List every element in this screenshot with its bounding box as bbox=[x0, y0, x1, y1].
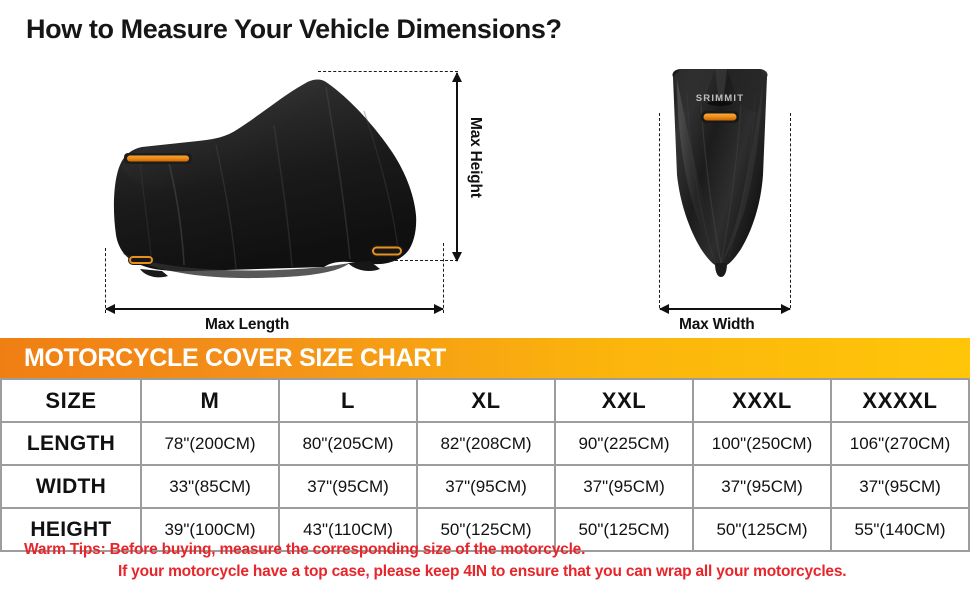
guide-height-bottom-dashed bbox=[390, 260, 458, 261]
max-height-label: Max Height bbox=[466, 117, 484, 198]
reflective-strip-upper bbox=[124, 153, 192, 164]
table-row-label-length: LENGTH bbox=[1, 422, 141, 465]
cell-length-xxxl: 100"(250CM) bbox=[693, 422, 831, 465]
guide-front-left-dashed bbox=[659, 113, 660, 308]
brand-logo: SRIMMIT bbox=[677, 93, 763, 104]
grommet-lower-left bbox=[128, 255, 154, 265]
size-chart-banner: MOTORCYCLE COVER SIZE CHART bbox=[0, 338, 970, 378]
guide-right-dashed bbox=[443, 243, 444, 313]
max-width-label: Max Width bbox=[679, 316, 755, 334]
reflective-strip-front bbox=[701, 111, 739, 123]
cell-width-xxl: 37"(95CM) bbox=[555, 465, 693, 508]
max-width-arrow bbox=[660, 308, 790, 310]
cell-width-xxxxl: 37"(95CM) bbox=[831, 465, 969, 508]
guide-front-right-dashed bbox=[790, 113, 791, 308]
guide-top-dashed bbox=[318, 71, 458, 72]
cell-length-xxxxl: 106"(270CM) bbox=[831, 422, 969, 465]
table-row-length: LENGTH 78"(200CM) 80"(205CM) 82"(208CM) … bbox=[1, 422, 969, 465]
warm-tips: Warm Tips: Before buying, measure the co… bbox=[0, 541, 970, 581]
cell-length-xl: 82"(208CM) bbox=[417, 422, 555, 465]
max-length-label: Max Length bbox=[205, 316, 289, 334]
table-col-header-xxxxl: XXXXL bbox=[831, 379, 969, 422]
table-col-header-m: M bbox=[141, 379, 279, 422]
cell-length-xxl: 90"(225CM) bbox=[555, 422, 693, 465]
max-length-arrow bbox=[106, 308, 443, 310]
max-height-arrow bbox=[456, 73, 458, 261]
cell-length-l: 80"(205CM) bbox=[279, 422, 417, 465]
cell-width-xxxl: 37"(95CM) bbox=[693, 465, 831, 508]
table-corner-label: SIZE bbox=[1, 379, 141, 422]
size-chart-banner-title: MOTORCYCLE COVER SIZE CHART bbox=[24, 344, 446, 373]
motorcycle-cover-side-image bbox=[98, 67, 448, 292]
warm-tips-line-1: Warm Tips: Before buying, measure the co… bbox=[24, 541, 970, 559]
table-col-header-xxxl: XXXL bbox=[693, 379, 831, 422]
cell-width-xl: 37"(95CM) bbox=[417, 465, 555, 508]
illustration-area: Max Height Max Length bbox=[0, 55, 970, 335]
table-row-label-width: WIDTH bbox=[1, 465, 141, 508]
table-col-header-l: L bbox=[279, 379, 417, 422]
table-row-header: SIZE M L XL XXL XXXL XXXXL bbox=[1, 379, 969, 422]
cell-width-l: 37"(95CM) bbox=[279, 465, 417, 508]
table-col-header-xxl: XXL bbox=[555, 379, 693, 422]
cell-length-m: 78"(200CM) bbox=[141, 422, 279, 465]
table-col-header-xl: XL bbox=[417, 379, 555, 422]
warm-tips-line-2: If your motorcycle have a top case, plea… bbox=[118, 563, 970, 581]
grommet-lower-right bbox=[370, 245, 404, 257]
size-chart-table: SIZE M L XL XXL XXXL XXXXL LENGTH 78"(20… bbox=[0, 378, 970, 552]
page-title: How to Measure Your Vehicle Dimensions? bbox=[26, 14, 562, 45]
cell-width-m: 33"(85CM) bbox=[141, 465, 279, 508]
motorcycle-cover-front-image: SRIMMIT bbox=[655, 63, 785, 293]
table-row-width: WIDTH 33"(85CM) 37"(95CM) 37"(95CM) 37"(… bbox=[1, 465, 969, 508]
